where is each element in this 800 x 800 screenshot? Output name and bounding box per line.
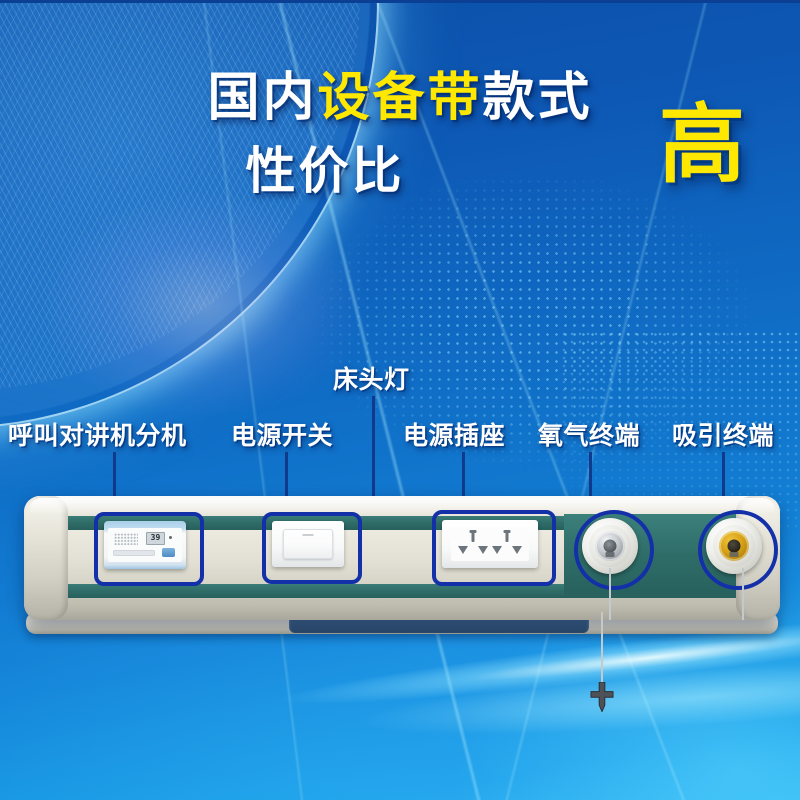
oxygen-pull-cord[interactable] bbox=[609, 568, 611, 620]
highlight-box-socket bbox=[432, 510, 556, 586]
callout-label-oxygen: 氧气终端 bbox=[538, 416, 640, 452]
highlight-circle-oxygen bbox=[574, 510, 654, 590]
pull-cord-handle-icon[interactable] bbox=[589, 682, 615, 712]
highlight-box-switch bbox=[262, 512, 362, 584]
promo-banner: 国内设备带款式 性价比高 呼叫对讲机分机 电源开关 床头灯 电源插座 氧气终端 … bbox=[0, 0, 800, 800]
callout-layer: 呼叫对讲机分机 电源开关 床头灯 电源插座 氧气终端 吸引终端 bbox=[0, 0, 800, 800]
suction-pull-cord[interactable] bbox=[742, 568, 744, 620]
highlight-box-intercom bbox=[94, 512, 204, 586]
callout-label-suction: 吸引终端 bbox=[672, 416, 774, 452]
callout-label-switch: 电源开关 bbox=[231, 416, 333, 452]
hanging-pull-cord[interactable] bbox=[601, 612, 603, 690]
medical-equipment-panel: 39 bbox=[24, 496, 780, 620]
callout-label-socket: 电源插座 bbox=[403, 416, 505, 452]
callout-label-bed-lamp: 床头灯 bbox=[333, 360, 410, 396]
highlight-circle-suction bbox=[698, 510, 778, 590]
panel-endcap-left bbox=[24, 496, 68, 620]
callout-label-intercom: 呼叫对讲机分机 bbox=[8, 416, 187, 452]
